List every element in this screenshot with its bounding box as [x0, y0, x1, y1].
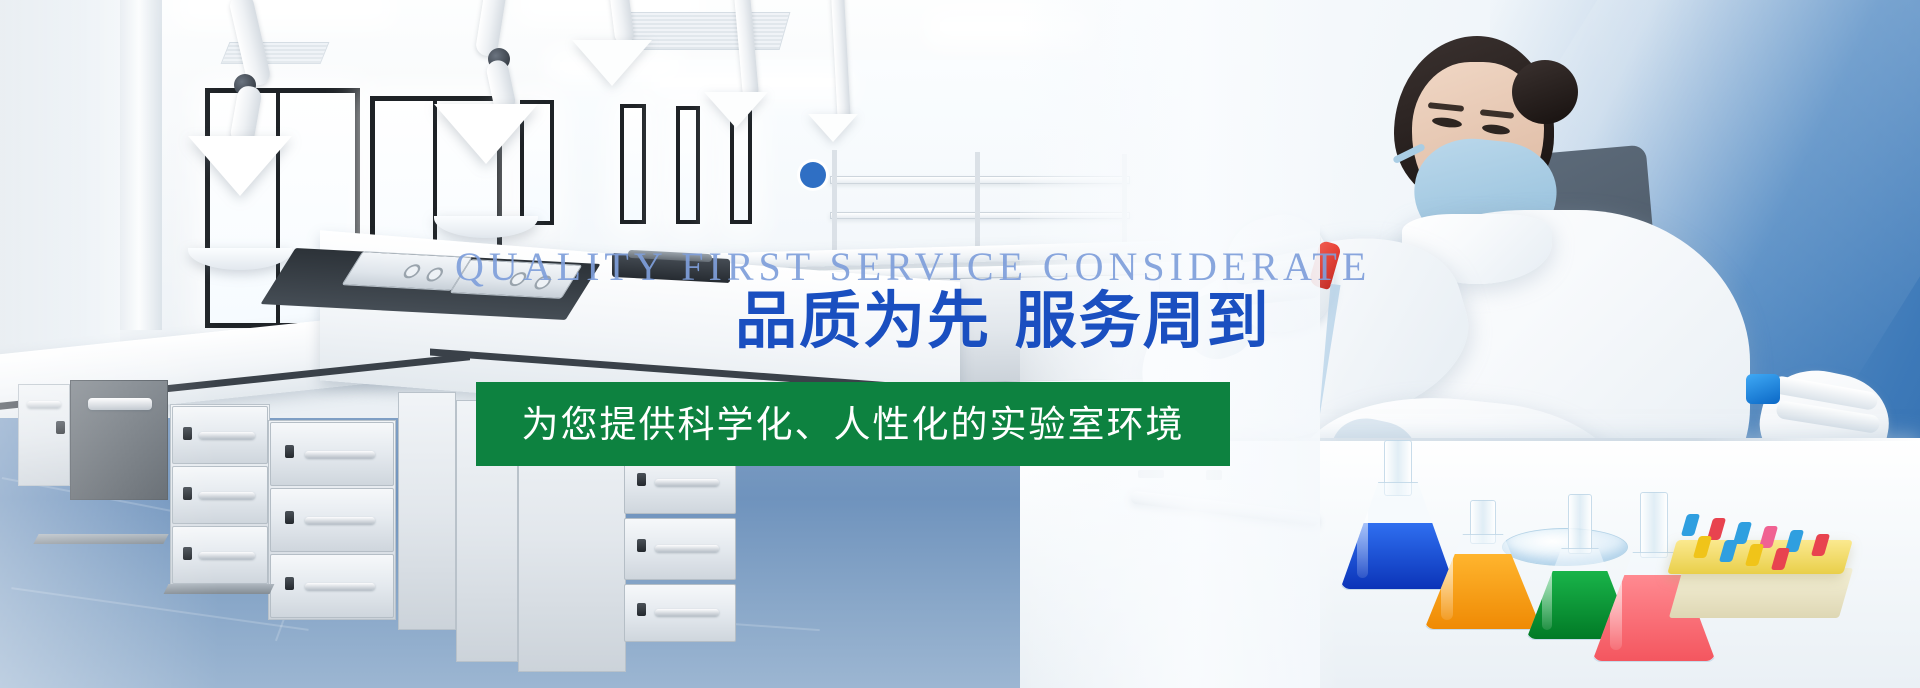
- promo-banner: QUALITY FIRST SERVICE CONSIDERATE 品质为先 服…: [0, 0, 1920, 688]
- banner-headline: 品质为先 服务周到: [735, 288, 1271, 353]
- banner-copy: QUALITY FIRST SERVICE CONSIDERATE 品质为先 服…: [0, 0, 1920, 688]
- banner-subtitle-text: 为您提供科学化、人性化的实验室环境: [522, 406, 1185, 443]
- banner-subtitle-bar: 为您提供科学化、人性化的实验室环境: [476, 382, 1230, 466]
- banner-eyebrow-text: QUALITY FIRST SERVICE CONSIDERATE: [455, 247, 1371, 287]
